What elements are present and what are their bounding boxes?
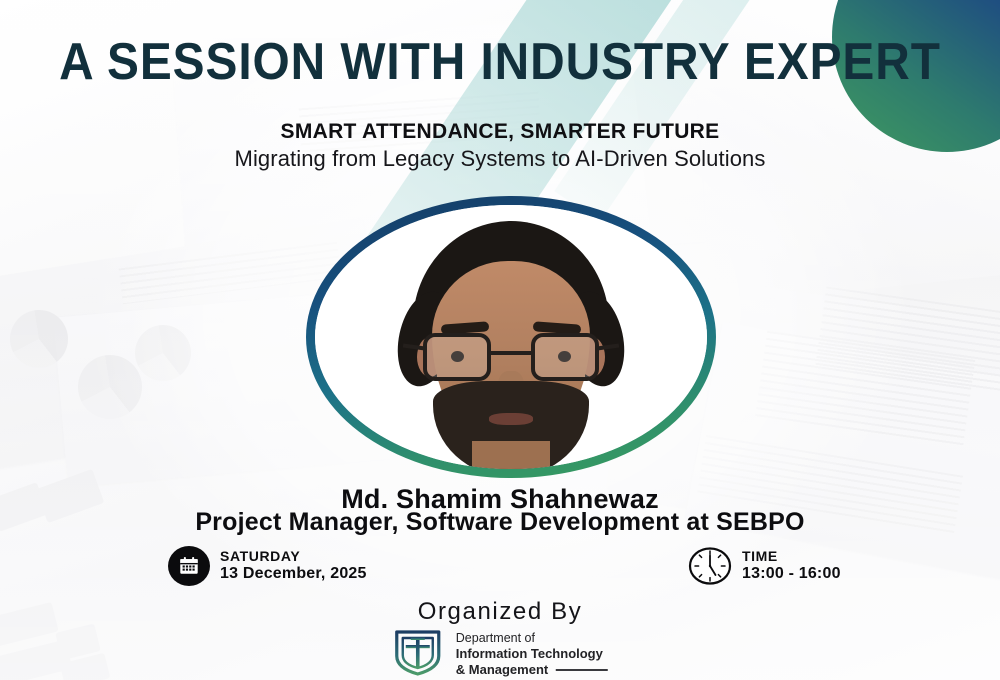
organizer-line-2: Information Technology xyxy=(456,646,608,662)
eyeglass-lens-right xyxy=(531,333,599,381)
speaker-role: Project Manager, Software Development at… xyxy=(0,508,1000,537)
portrait-eyeglasses xyxy=(423,333,599,385)
event-time-label: TIME xyxy=(742,548,841,565)
organizer-line-1: Department of xyxy=(456,631,608,646)
eyeglass-lens-left xyxy=(423,333,491,381)
eyeglass-bridge xyxy=(491,351,531,355)
page-title: A SESSION WITH INDUSTRY EXPERT xyxy=(40,36,960,88)
calendar-icon xyxy=(168,546,210,586)
organized-by-heading: Organized By xyxy=(0,598,1000,626)
organizer-divider-rule xyxy=(556,669,608,671)
clock-icon xyxy=(688,546,732,586)
event-time-text: TIME 13:00 - 16:00 xyxy=(742,548,841,583)
organizer-line-3-row: & Management xyxy=(456,662,608,678)
event-date-block: SATURDAY 13 December, 2025 xyxy=(168,546,367,586)
organizer-line-3: & Management xyxy=(456,662,548,678)
organizer-text: Department of Information Technology & M… xyxy=(456,631,608,678)
organizer-block: Department of Information Technology & M… xyxy=(392,628,608,680)
event-time-block: TIME 13:00 - 16:00 xyxy=(688,546,841,586)
portrait-mouth xyxy=(489,413,533,425)
event-poster: A SESSION WITH INDUSTRY EXPERT SMART ATT… xyxy=(0,0,1000,680)
speaker-photo xyxy=(315,205,707,469)
shield-it-logo-icon xyxy=(392,628,444,680)
event-date-value: 13 December, 2025 xyxy=(220,565,367,584)
subtitle-primary: SMART ATTENDANCE, SMARTER FUTURE xyxy=(0,120,1000,144)
portrait-clip xyxy=(315,205,707,469)
speaker-portrait-frame xyxy=(306,196,716,478)
portrait-neck xyxy=(472,441,550,469)
event-date-text: SATURDAY 13 December, 2025 xyxy=(220,548,367,583)
event-day-label: SATURDAY xyxy=(220,548,367,565)
event-time-value: 13:00 - 16:00 xyxy=(742,565,841,584)
portrait-gradient-ring xyxy=(306,196,716,478)
subtitle-secondary: Migrating from Legacy Systems to AI-Driv… xyxy=(0,146,1000,172)
